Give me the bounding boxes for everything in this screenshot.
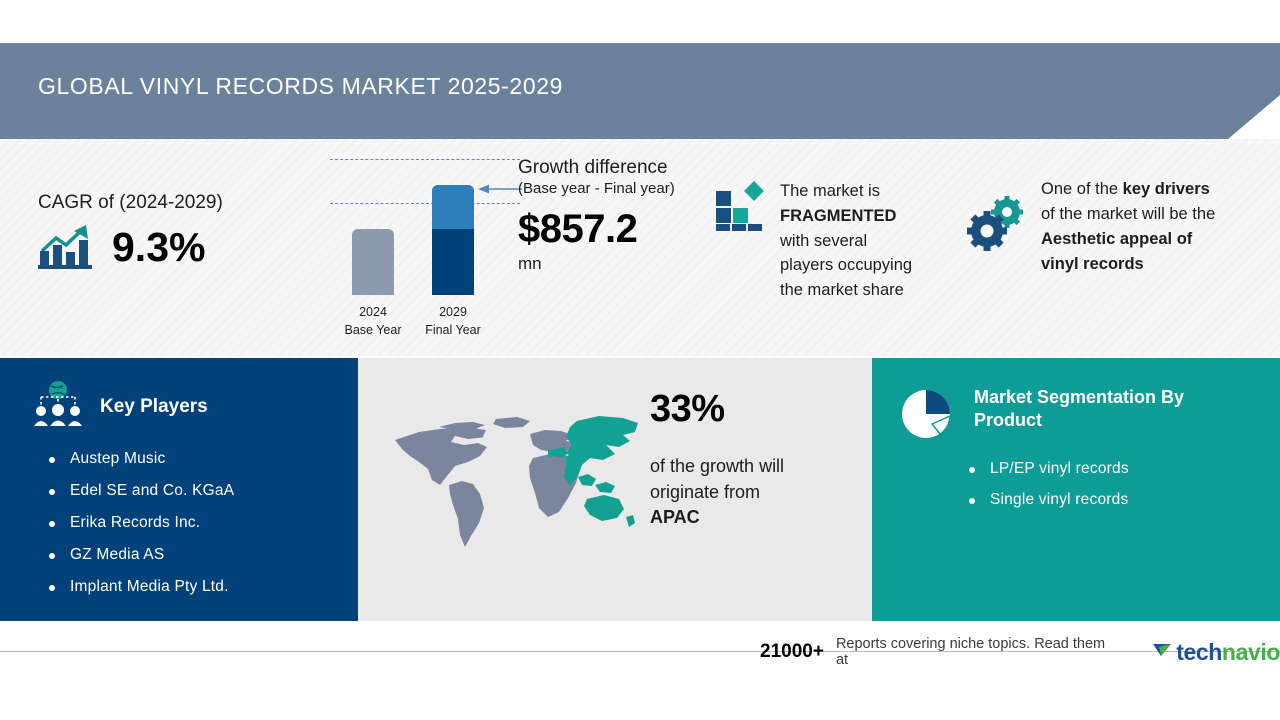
key-drivers-block: One of the key drivers of the market wil… <box>965 177 1256 277</box>
list-item: Edel SE and Co. KGaA <box>46 482 234 500</box>
frag-line3: players occupying <box>780 256 912 274</box>
footer-text: Reports covering niche topics. Read them… <box>836 636 1118 668</box>
segmentation-header: Market Segmentation By Product <box>900 386 1224 447</box>
region-description: of the growth will originate from APAC <box>650 454 850 531</box>
pie-chart-icon <box>900 386 956 447</box>
report-count: 21000+ <box>760 641 824 663</box>
squares-staircase-icon <box>714 179 764 236</box>
bar-2024 <box>352 229 394 295</box>
cagr-value: 9.3% <box>112 227 205 268</box>
gridline-top <box>330 159 520 160</box>
region-growth-panel: 33% of the growth will originate from AP… <box>358 358 872 621</box>
bar-2029-growth-segment <box>432 185 474 229</box>
technavio-mark-icon <box>1152 640 1172 665</box>
key-players-panel: Key Players Austep Music Edel SE and Co.… <box>0 358 358 621</box>
region-name: APAC <box>650 507 700 527</box>
logo-tech-text: tech <box>1176 639 1222 665</box>
drv-line1-bold: key drivers <box>1123 180 1210 198</box>
footer: 21000+ Reports covering niche topics. Re… <box>760 636 1280 668</box>
cagr-block: 9.3% <box>36 221 205 274</box>
top-stats-band: CAGR of (2024-2029) 9.3% <box>0 139 1280 356</box>
cagr-label: CAGR of (2024-2029) <box>38 192 223 214</box>
list-item: LP/EP vinyl records <box>966 460 1129 478</box>
drv-bold-line2: vinyl records <box>1041 255 1144 273</box>
key-players-list: Austep Music Edel SE and Co. KGaA Erika … <box>46 450 234 610</box>
drv-line2: of the market will be the <box>1041 205 1215 223</box>
list-item: Implant Media Pty Ltd. <box>46 578 234 596</box>
technavio-logo[interactable]: technavio <box>1152 639 1280 666</box>
gridline-mid <box>330 203 520 204</box>
fragmentation-block: The market is FRAGMENTED with several pl… <box>714 179 950 303</box>
key-players-header: Key Players <box>32 380 208 433</box>
logo-navio-text: navio <box>1222 639 1280 665</box>
key-players-title: Key Players <box>100 396 208 418</box>
page-title: GLOBAL VINYL RECORDS MARKET 2025-2029 <box>38 73 563 100</box>
frag-line2: with several <box>780 232 867 250</box>
drv-bold-line1: Aesthetic appeal of <box>1041 230 1192 248</box>
list-item: Austep Music <box>46 450 234 468</box>
list-item: Erika Records Inc. <box>46 514 234 532</box>
frag-line4: the market share <box>780 281 904 299</box>
segmentation-title: Market Segmentation By Product <box>974 386 1224 431</box>
header-bar: GLOBAL VINYL RECORDS MARKET 2025-2029 <box>0 43 1280 139</box>
list-item: Single vinyl records <box>966 491 1129 509</box>
frag-emphasis: FRAGMENTED <box>780 207 896 225</box>
growth-title: Growth difference <box>518 157 768 179</box>
frag-line1: The market is <box>780 182 880 200</box>
drv-line1-pre: One of the <box>1041 180 1123 198</box>
key-drivers-text: One of the key drivers of the market wil… <box>1041 177 1256 277</box>
segmentation-list: LP/EP vinyl records Single vinyl records <box>966 460 1129 522</box>
growth-arrow-icon <box>478 181 522 191</box>
region-line1: of the growth will <box>650 456 784 476</box>
bar-chart-growth-icon <box>36 221 96 274</box>
fragmentation-text: The market is FRAGMENTED with several pl… <box>780 179 950 303</box>
bar-2029 <box>432 185 474 295</box>
region-line2: originate from <box>650 482 760 502</box>
segmentation-panel: Market Segmentation By Product LP/EP vin… <box>872 358 1280 621</box>
world-map <box>380 410 640 560</box>
region-percent: 33% <box>650 388 725 431</box>
globe-org-chart-icon <box>32 380 84 433</box>
infographic-page: GLOBAL VINYL RECORDS MARKET 2025-2029 CA… <box>0 0 1280 720</box>
list-item: GZ Media AS <box>46 546 234 564</box>
bar-2029-label: 2029 Final Year <box>410 303 496 339</box>
gears-icon <box>965 195 1027 256</box>
bar-2024-label: 2024 Base Year <box>330 303 416 339</box>
technavio-wordmark: technavio <box>1176 639 1280 666</box>
